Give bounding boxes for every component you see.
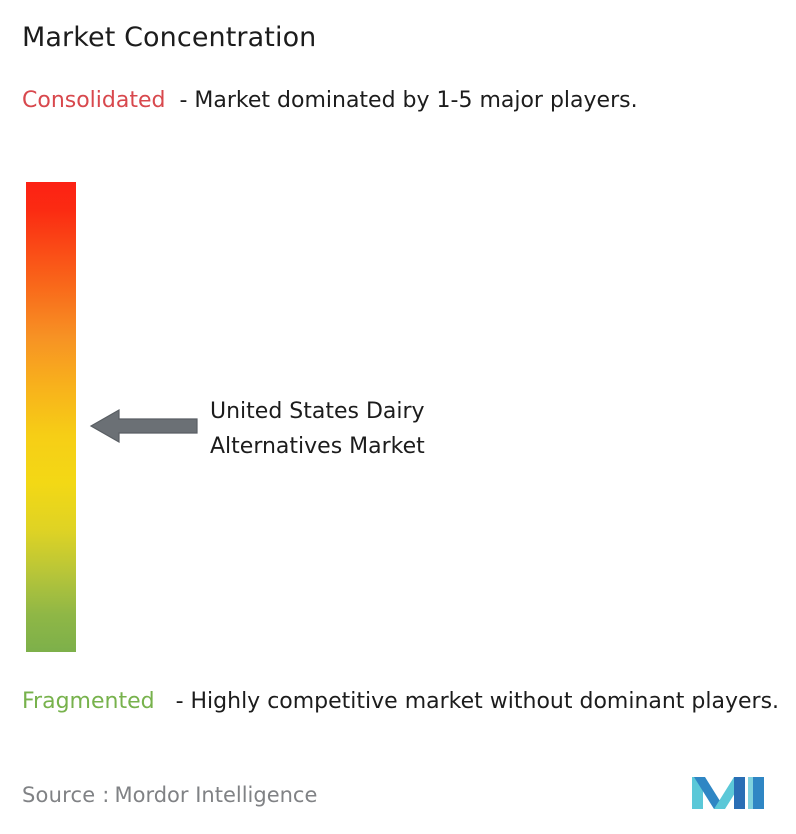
legend-separator-top (165, 88, 179, 113)
market-marker-label-line1: United States Dairy (210, 394, 540, 429)
legend-keyword-fragmented: Fragmented (22, 689, 155, 714)
legend-description-consolidated: - Market dominated by 1-5 major players. (179, 88, 637, 113)
market-concentration-gradient-bar (26, 182, 76, 652)
mordor-intelligence-logo (692, 770, 764, 816)
arrow-left-icon (89, 406, 199, 446)
source-label: Source : (22, 783, 109, 807)
page-title: Market Concentration (22, 21, 316, 55)
market-marker-label-line2: Alternatives Market (210, 429, 540, 464)
market-marker-label: United States Dairy Alternatives Market (210, 394, 540, 464)
source-value: Mordor Intelligence (114, 783, 317, 807)
legend-fragmented: Fragmented - Highly competitive market w… (22, 686, 790, 717)
legend-consolidated: Consolidated - Market dominated by 1-5 m… (22, 85, 782, 116)
legend-keyword-consolidated: Consolidated (22, 88, 165, 113)
source-attribution: Source :Mordor Intelligence (22, 782, 317, 809)
legend-separator-bottom (155, 689, 176, 714)
legend-description-fragmented: - Highly competitive market without domi… (176, 689, 779, 714)
